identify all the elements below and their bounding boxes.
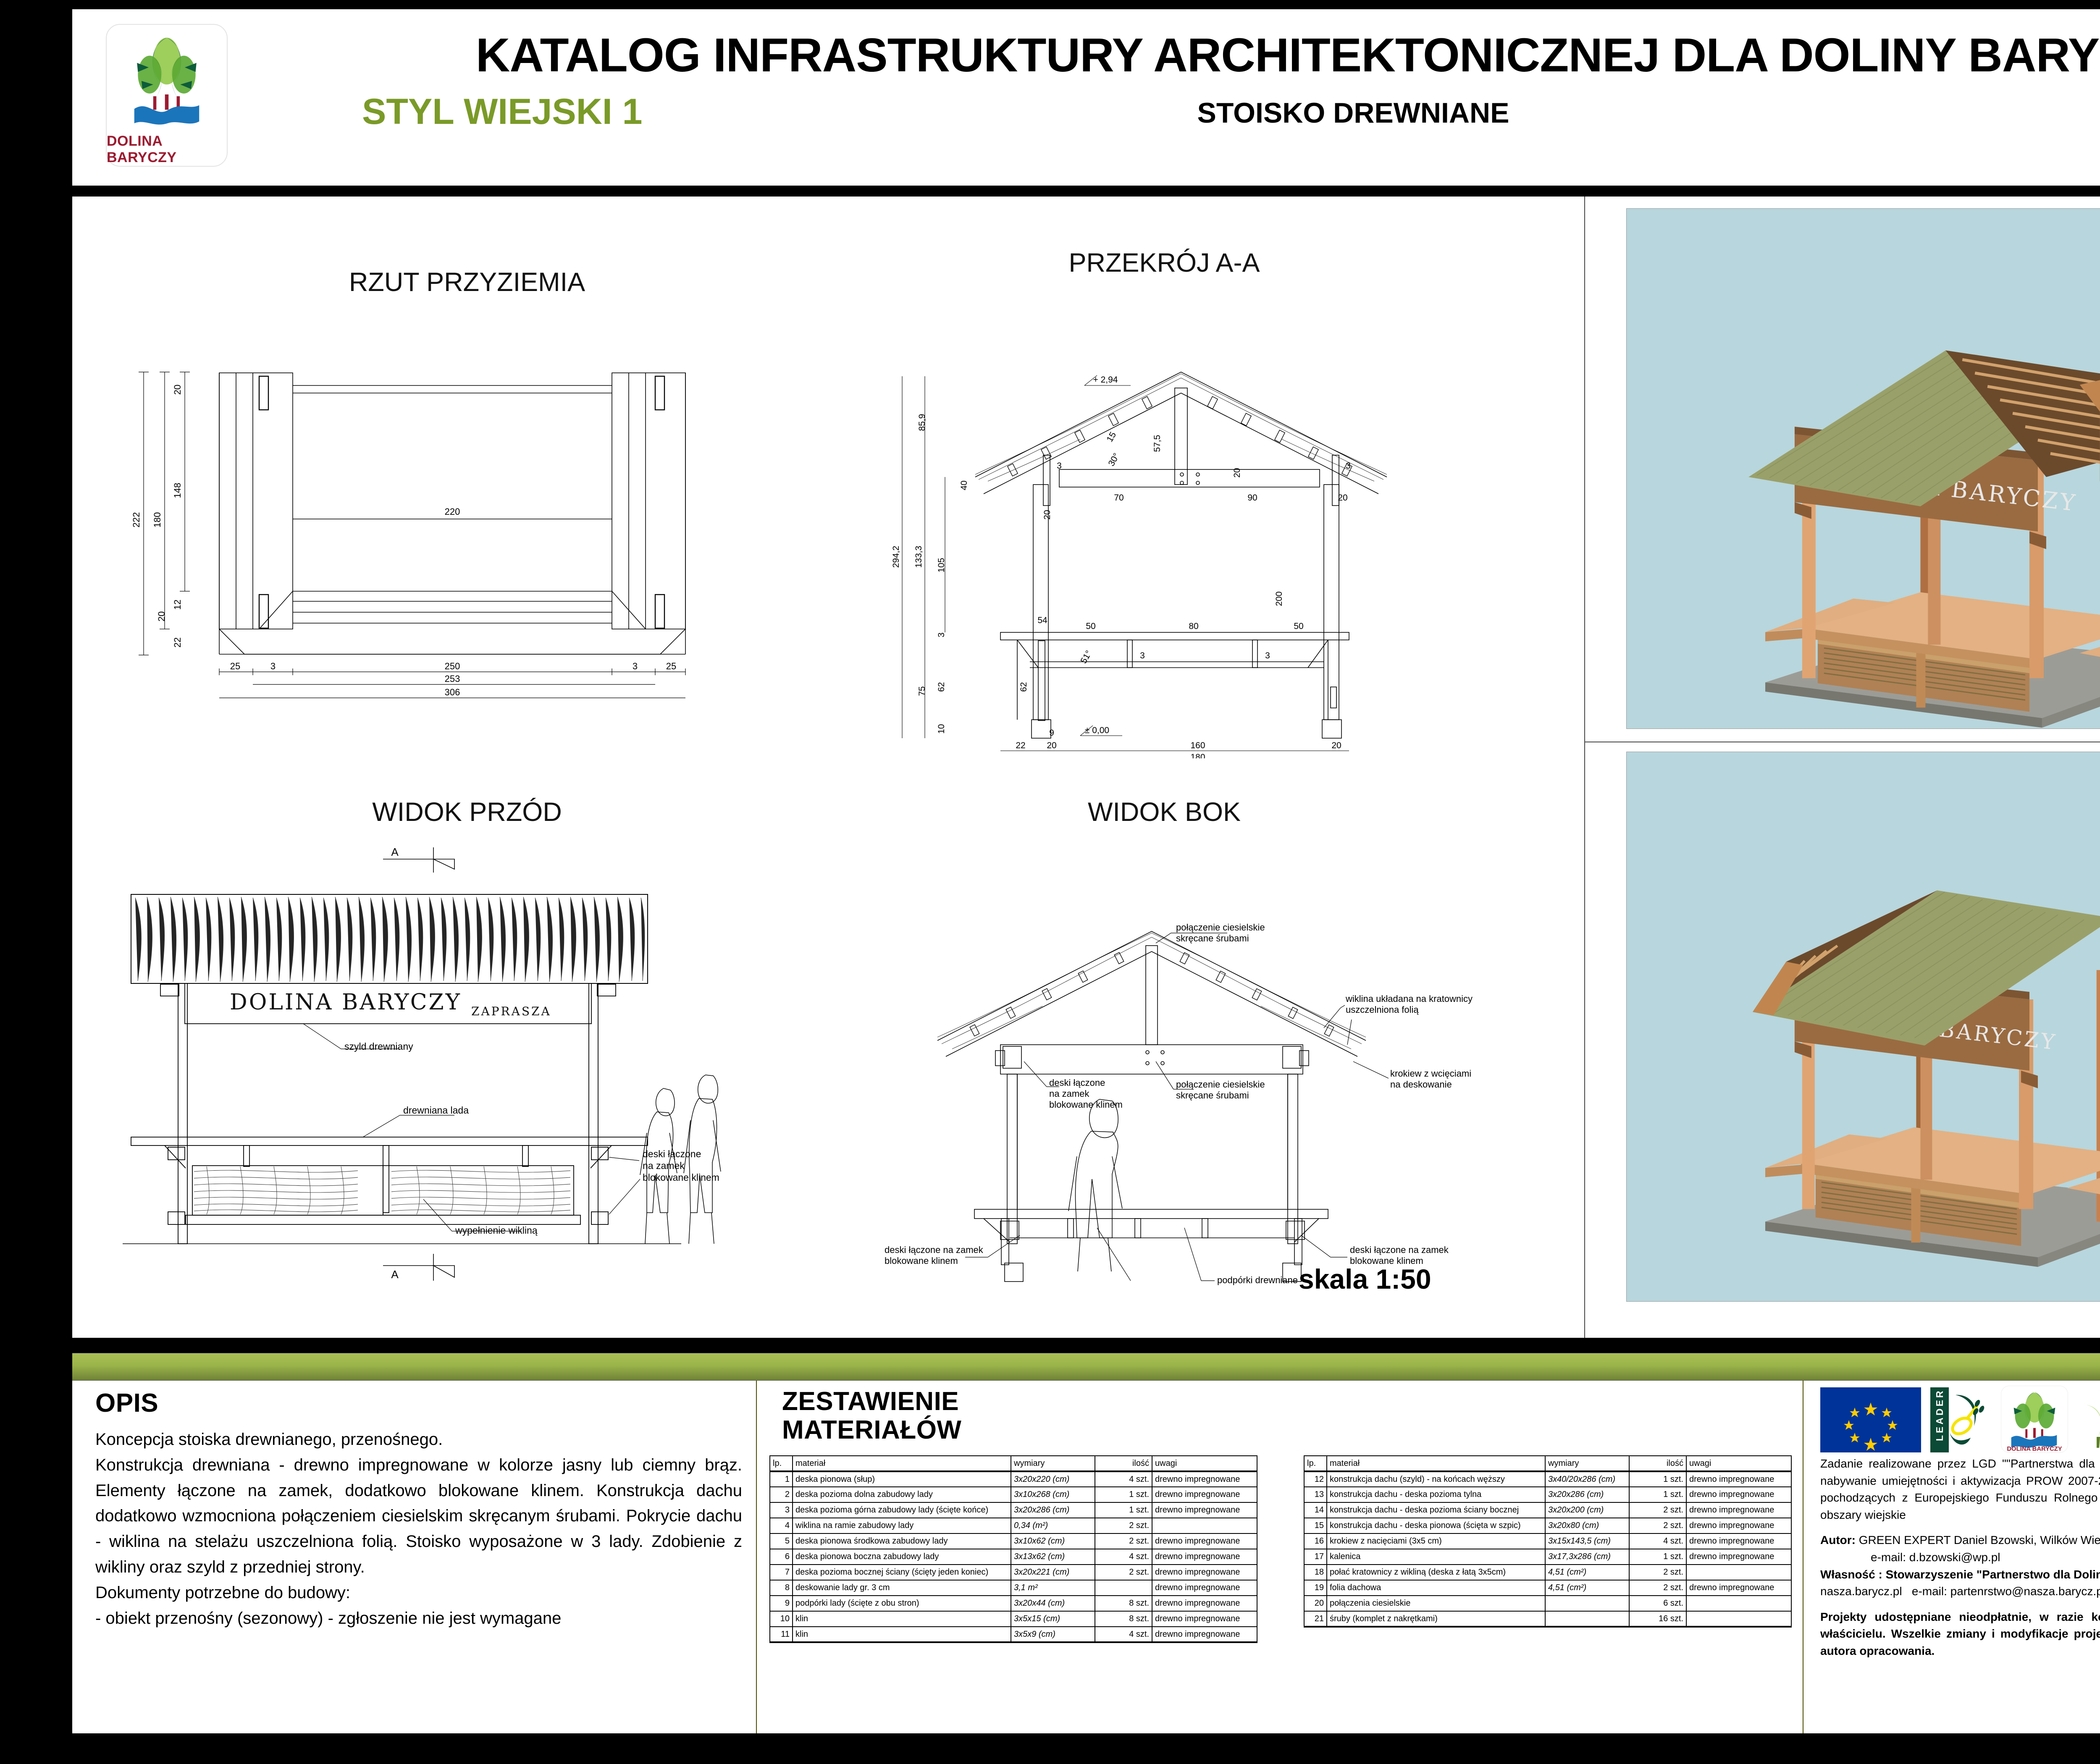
cell-mat: klin xyxy=(793,1627,1011,1642)
cell-dim: 3x10x268 (cm) xyxy=(1011,1487,1095,1502)
dim-sec-90: 90 xyxy=(1247,493,1257,503)
side-ann-wicker-l1: wiklina układana na kratownicy xyxy=(1345,993,1473,1004)
cell-dim: 3x5x15 (cm) xyxy=(1011,1611,1095,1627)
cell-num: 20 xyxy=(1304,1596,1327,1611)
col-ilosc-2: ilość xyxy=(1629,1456,1686,1471)
table-row: 16krokiew z nacięciami (3x5 cm)3x15x143,… xyxy=(1304,1533,1791,1549)
table-row: 21śruby (komplet z nakrętkami)16 szt. xyxy=(1304,1611,1791,1627)
dim-plan-180: 180 xyxy=(152,512,163,528)
cell-mat: połać kratownicy z wikliną (deska z łatą… xyxy=(1327,1565,1545,1580)
cell-mat: folia dachowa xyxy=(1327,1580,1545,1596)
level-zero-label: ± 0,00 xyxy=(1085,726,1109,735)
cell-rem: drewno impregnowane xyxy=(1152,1487,1257,1502)
table-row: 1deska pionowa (słup)3x20x220 (cm)4 szt.… xyxy=(770,1471,1257,1487)
cell-rem: drewno impregnowane xyxy=(1152,1611,1257,1627)
cell-dim: 4,51 (cm²) xyxy=(1545,1580,1629,1596)
dim-plan-3r: 3 xyxy=(633,661,638,671)
dim-sec-20roof: 20 xyxy=(1232,468,1242,477)
side-ann-joint-l2: skręcane śrubami xyxy=(1176,1090,1249,1101)
cell-rem: drewno impregnowane xyxy=(1686,1518,1791,1533)
dim-sec-20left: 20 xyxy=(1042,510,1052,519)
render-divider-horizontal xyxy=(1584,742,2100,742)
col-uwagi: uwagi xyxy=(1152,1456,1257,1471)
dim-sec-200: 200 xyxy=(1274,591,1284,606)
front-sign-text: DOLINA BARYCZY xyxy=(230,990,462,1015)
cell-qty: 2 szt. xyxy=(1629,1502,1686,1518)
dim-sec-3right: 3 xyxy=(1346,461,1351,471)
scale-figure-side xyxy=(1068,1099,1122,1271)
scale-figures xyxy=(640,1075,721,1244)
table-row: 2deska pozioma dolna zabudowy lady3x10x2… xyxy=(770,1487,1257,1502)
cell-num: 5 xyxy=(770,1533,793,1549)
cell-qty: 1 szt. xyxy=(1095,1502,1152,1518)
side-view-drawing: połączenie ciesielskie skręcane śrubami … xyxy=(862,843,1542,1297)
cell-rem xyxy=(1686,1611,1791,1627)
side-ann-boards-l2: na zamek xyxy=(1049,1088,1089,1099)
cell-rem: drewno impregnowane xyxy=(1152,1502,1257,1518)
cell-qty: 1 szt. xyxy=(1629,1487,1686,1502)
dolina-baryczy-logo: DOLINA BARYCZY xyxy=(106,24,228,167)
cell-rem: drewno impregnowane xyxy=(1686,1533,1791,1549)
cell-rem: drewno impregnowane xyxy=(1152,1627,1257,1642)
cell-qty: 4 szt. xyxy=(1095,1471,1152,1487)
section-mark-a-top: A xyxy=(391,846,399,858)
col-lp: lp. xyxy=(770,1456,793,1471)
cell-num: 13 xyxy=(1304,1487,1327,1502)
cell-num: 15 xyxy=(1304,1518,1327,1533)
cell-qty: 2 szt. xyxy=(1629,1565,1686,1580)
front-ann-counter: drewniana lada xyxy=(403,1105,469,1116)
page-subtitle: STOISKO DREWNIANE xyxy=(870,97,1836,129)
col-material: materiał xyxy=(793,1456,1011,1471)
cell-qty: 1 szt. xyxy=(1095,1487,1152,1502)
cell-qty: 1 szt. xyxy=(1629,1549,1686,1565)
table-row: 4wiklina na ramie zabudowy lady0,34 (m²)… xyxy=(770,1518,1257,1533)
cell-rem: drewno impregnowane xyxy=(1686,1487,1791,1502)
table-row: 14konstrukcja dachu - deska pozioma ścia… xyxy=(1304,1502,1791,1518)
cell-dim: 3x5x9 (cm) xyxy=(1011,1627,1095,1642)
cell-mat: deska pozioma górna zabudowy lady (ścięt… xyxy=(793,1502,1011,1518)
cell-dim: 3x20x220 (cm) xyxy=(1011,1471,1095,1487)
table-row: 13konstrukcja dachu - deska pozioma tyln… xyxy=(1304,1487,1791,1502)
dim-sec-20b: 20 xyxy=(1047,741,1056,750)
dim-sec-859: 85,9 xyxy=(917,414,927,431)
table-row: 6deska pionowa boczna zabudowy lady3x13x… xyxy=(770,1549,1257,1565)
table-row: 18połać kratownicy z wikliną (deska z ła… xyxy=(1304,1565,1791,1580)
side-ann-rafter-l2: na deskowanie xyxy=(1390,1079,1452,1090)
table-row: 8deskowanie lady gr. 3 cm3,1 m²drewno im… xyxy=(770,1580,1257,1596)
catalog-sheet: DOLINA BARYCZY KATALOG INFRASTRUKTURY AR… xyxy=(0,0,2100,1764)
owner-line: Własność : Stowarzyszenie "Partnerstwo d… xyxy=(1820,1566,2100,1583)
dim-sec-10: 10 xyxy=(937,724,946,734)
cell-num: 2 xyxy=(770,1487,793,1502)
dim-sec-1333: 133,3 xyxy=(914,546,924,568)
cell-mat: deskowanie lady gr. 3 cm xyxy=(793,1580,1011,1596)
dim-sec-80: 80 xyxy=(1189,621,1198,631)
level-top-label: + 2,94 xyxy=(1093,375,1118,385)
dim-sec-3a: 3 xyxy=(1140,651,1145,661)
side-ann-wicker-l2: uszczelniona folią xyxy=(1346,1004,1419,1015)
drawings-panel: RZUT PRZYZIEMIA PRZEKRÓJ A-A WIDOK PRZÓD… xyxy=(72,197,2100,1338)
cell-qty: 2 szt. xyxy=(1629,1518,1686,1533)
cell-dim: 3x20x44 (cm) xyxy=(1011,1596,1095,1611)
cell-mat: konstrukcja dachu - deska pozioma ściany… xyxy=(1327,1502,1545,1518)
section-drawing: 294,2 133,3 85,9 105 75 62 10 3 40 57,5 … xyxy=(862,296,1534,758)
dim-sec-62: 62 xyxy=(937,682,946,692)
dim-sec-angle30: 30° xyxy=(1106,451,1121,468)
dim-sec-70: 70 xyxy=(1114,493,1123,503)
front-ann-wicker: wypełnienie wikliną xyxy=(455,1225,538,1236)
cell-dim xyxy=(1545,1611,1629,1627)
cell-num: 18 xyxy=(1304,1565,1327,1580)
footer-text: Zadanie realizowane przez LGD ""Partners… xyxy=(1820,1455,2100,1660)
cell-rem: drewno impregnowane xyxy=(1152,1565,1257,1580)
side-ann-joint-l1: połączenie ciesielskie xyxy=(1176,1079,1265,1090)
page-title: KATALOG INFRASTRUKTURY ARCHITEKTONICZNEJ… xyxy=(274,28,2100,82)
dim-sec-40: 40 xyxy=(959,480,969,490)
cell-mat: podpórki lady (ścięte z obu stron) xyxy=(793,1596,1011,1611)
dim-plan-253: 253 xyxy=(445,674,460,684)
dim-sec-15: 15 xyxy=(1105,430,1118,444)
cell-mat: krokiew z nacięciami (3x5 cm) xyxy=(1327,1533,1545,1549)
cell-num: 11 xyxy=(770,1627,793,1642)
render-perspective-1: DOLINA BARYCZY xyxy=(1626,208,2100,729)
funding-paragraph: Zadanie realizowane przez LGD ""Partners… xyxy=(1820,1455,2100,1523)
cell-qty: 2 szt. xyxy=(1095,1533,1152,1549)
cell-rem: drewno impregnowane xyxy=(1152,1596,1257,1611)
cell-mat: kalenica xyxy=(1327,1549,1545,1565)
cell-num: 1 xyxy=(770,1471,793,1487)
materials-heading-2: MATERIAŁÓW xyxy=(782,1415,961,1445)
table-row: 9podpórki lady (ścięte z obu stron)3x20x… xyxy=(770,1596,1257,1611)
dim-sec-75: 75 xyxy=(917,686,927,696)
cell-qty: 4 szt. xyxy=(1629,1533,1686,1549)
cell-qty: 8 szt. xyxy=(1095,1596,1152,1611)
cell-dim: 3x20x286 (cm) xyxy=(1011,1502,1095,1518)
cell-num: 17 xyxy=(1304,1549,1327,1565)
dim-sec-20br: 20 xyxy=(1331,741,1341,750)
table-row: 7deska pozioma bocznej ściany (ścięty je… xyxy=(770,1565,1257,1580)
materials-table-left: lp. materiał wymiary ilość uwagi 1deska … xyxy=(769,1455,1257,1643)
side-ann-br-l1: deski łączone na zamek xyxy=(1350,1245,1449,1255)
dim-sec-160: 160 xyxy=(1190,741,1205,750)
cell-dim: 3x20x221 (cm) xyxy=(1011,1565,1095,1580)
dim-plan-222: 222 xyxy=(131,512,142,528)
green-divider-bar xyxy=(72,1353,2100,1381)
section-mark-a-bottom: A xyxy=(391,1268,399,1281)
side-ann-bl-l2: blokowane klinem xyxy=(885,1256,958,1266)
col-wymiary: wymiary xyxy=(1011,1456,1095,1471)
opis-paragraph-3: - obiekt przenośny (sezonowy) - zgłoszen… xyxy=(95,1606,742,1631)
plan-title: RZUT PRZYZIEMIA xyxy=(215,267,719,297)
cell-num: 9 xyxy=(770,1596,793,1611)
cell-mat: deska pionowa środkowa zabudowy lady xyxy=(793,1533,1011,1549)
cell-qty: 2 szt. xyxy=(1629,1580,1686,1596)
col-material-2: materiał xyxy=(1327,1456,1545,1471)
dim-sec-180: 180 xyxy=(1190,752,1205,758)
front-ann-boards-l3: blokowane klinem xyxy=(643,1172,719,1183)
table-row: 12konstrukcja dachu (szyld) - na końcach… xyxy=(1304,1471,1791,1487)
dim-plan-306: 306 xyxy=(445,687,460,697)
karta-label: KARTA: STOISKO DREWNIANE 1/2 xyxy=(1848,1733,2100,1756)
owner-label: Własność : Stowarzyszenie "Partnerstwo d… xyxy=(1820,1568,2100,1581)
dim-plan-25l: 25 xyxy=(230,661,240,671)
leader-logo: LEADER xyxy=(1930,1387,1991,1452)
cell-qty: 6 szt. xyxy=(1629,1596,1686,1611)
front-ann-sign: szyld drewniany xyxy=(344,1041,413,1052)
dim-plan-22: 22 xyxy=(172,637,183,647)
side-ann-boards-l3: blokowane klinem xyxy=(1049,1099,1123,1110)
dim-sec-575: 57,5 xyxy=(1152,435,1162,452)
cell-mat: deska pozioma bocznej ściany (ścięty jed… xyxy=(793,1565,1011,1580)
panel-divider-vertical xyxy=(1584,197,1585,1338)
cell-dim: 3x13x62 (cm) xyxy=(1011,1549,1095,1565)
dolina-baryczy-logo-text: DOLINA BARYCZY xyxy=(107,133,227,166)
materials-heading-1: ZESTAWIENIE xyxy=(782,1387,959,1416)
bottom-divider-1 xyxy=(756,1381,757,1733)
cell-rem xyxy=(1152,1518,1257,1533)
cell-dim: 3x17,3x286 (cm) xyxy=(1545,1549,1629,1565)
cell-mat: konstrukcja dachu - deska pozioma tylna xyxy=(1327,1487,1545,1502)
eu-flag-logo xyxy=(1820,1387,1921,1452)
opis-paragraph-0: Koncepcja stoiska drewnianego, przenośne… xyxy=(95,1427,742,1452)
dim-plan-12: 12 xyxy=(172,600,183,610)
cell-num: 8 xyxy=(770,1580,793,1596)
dim-plan-20top: 20 xyxy=(172,385,183,395)
dim-sec-angle51: 51° xyxy=(1079,649,1094,665)
cell-num: 4 xyxy=(770,1518,793,1533)
table-row: 11klin3x5x9 (cm)4 szt.drewno impregnowan… xyxy=(770,1627,1257,1642)
table-row: 5deska pionowa środkowa zabudowy lady3x1… xyxy=(770,1533,1257,1549)
owner-web: nasza.barycz.pl xyxy=(1820,1585,1902,1598)
cell-qty: 16 szt. xyxy=(1629,1611,1686,1627)
side-ann-ridge-l2: skręcane śrubami xyxy=(1176,933,1249,944)
materials-table-right: lp. materiał wymiary ilość uwagi 12konst… xyxy=(1304,1455,1792,1628)
dim-sec-3b: 3 xyxy=(1265,651,1270,661)
cell-rem: drewno impregnowane xyxy=(1686,1549,1791,1565)
opis-paragraph-2: Dokumenty potrzebne do budowy: xyxy=(95,1580,742,1606)
side-ann-rafter-l1: krokiew z wcięciami xyxy=(1390,1068,1471,1079)
section-title: PRZEKRÓJ A-A xyxy=(912,248,1416,278)
col-wymiary-2: wymiary xyxy=(1545,1456,1629,1471)
cell-dim: 3x20x200 (cm) xyxy=(1545,1502,1629,1518)
cell-rem: drewno impregnowane xyxy=(1686,1471,1791,1487)
render-perspective-2: DOLINA BARYCZY xyxy=(1626,752,2100,1302)
cell-mat: deska pozioma dolna zabudowy lady xyxy=(793,1487,1011,1502)
cell-qty: 8 szt. xyxy=(1095,1611,1152,1627)
leader-logo-text: LEADER xyxy=(1934,1389,1945,1441)
bottom-panel: OPIS Koncepcja stoiska drewnianego, prze… xyxy=(72,1381,2100,1733)
cell-num: 6 xyxy=(770,1549,793,1565)
floor-plan-drawing: 222 180 148 20 12 20 22 220 xyxy=(114,322,744,742)
cell-rem: drewno impregnowane xyxy=(1152,1533,1257,1549)
cell-rem xyxy=(1686,1596,1791,1611)
cell-mat: deska pionowa (słup) xyxy=(793,1471,1011,1487)
col-uwagi-2: uwagi xyxy=(1686,1456,1791,1471)
cell-dim: 3x20x80 (cm) xyxy=(1545,1518,1629,1533)
style-label: STYL WIEJSKI 1 xyxy=(362,91,642,133)
cell-num: 14 xyxy=(1304,1502,1327,1518)
cell-dim: 3x15x143,5 (cm) xyxy=(1545,1533,1629,1549)
cell-mat: wiklina na ramie zabudowy lady xyxy=(793,1518,1011,1533)
cell-qty: 4 szt. xyxy=(1095,1549,1152,1565)
materials-header-row: lp. materiał wymiary ilość uwagi xyxy=(770,1456,1257,1471)
license-text: Projekty udostępniane nieodpłatnie, w ra… xyxy=(1820,1609,2100,1660)
cell-mat: śruby (komplet z nakrętkami) xyxy=(1327,1611,1545,1627)
cell-rem: drewno impregnowane xyxy=(1152,1471,1257,1487)
table-row: 20połączenia ciesielskie6 szt. xyxy=(1304,1596,1791,1611)
dim-plan-220: 220 xyxy=(445,506,460,517)
front-view-drawing: A A xyxy=(123,843,778,1297)
side-ann-ridge-l1: połączenie ciesielskie xyxy=(1176,922,1265,933)
cell-num: 7 xyxy=(770,1565,793,1580)
cell-qty: 2 szt. xyxy=(1095,1518,1152,1533)
page-header: DOLINA BARYCZY KATALOG INFRASTRUKTURY AR… xyxy=(72,9,2100,186)
dim-sec-54: 54 xyxy=(1037,616,1047,625)
dolina-baryczy-footer-logo: DOLINA BARYCZY xyxy=(2001,1386,2068,1453)
cell-num: 21 xyxy=(1304,1611,1327,1627)
materials-header-row-2: lp. materiał wymiary ilość uwagi xyxy=(1304,1456,1791,1471)
front-view-title: WIDOK PRZÓD xyxy=(215,797,719,827)
table-row: 19folia dachowa4,51 (cm²)2 szt.drewno im… xyxy=(1304,1580,1791,1596)
table-row: 3deska pozioma górna zabudowy lady (ścię… xyxy=(770,1502,1257,1518)
cell-rem: drewno impregnowane xyxy=(1686,1502,1791,1518)
opis-heading: OPIS xyxy=(95,1388,158,1418)
cell-qty: 2 szt. xyxy=(1095,1565,1152,1580)
author-text: GREEN EXPERT Daniel Bzowski, Wilków Wiel… xyxy=(1859,1533,2100,1546)
cell-dim: 4,51 (cm²) xyxy=(1545,1565,1629,1580)
cell-mat: konstrukcja dachu (szyld) - na końcach w… xyxy=(1327,1471,1545,1487)
author-label: Autor: xyxy=(1820,1533,1856,1546)
cell-dim: 3x10x62 (cm) xyxy=(1011,1533,1095,1549)
dolina-baryczy-footer-text: DOLINA BARYCZY xyxy=(2007,1446,2062,1452)
owner-email: e-mail: partenrstwo@nasza.barycz.pl xyxy=(1912,1585,2100,1598)
cell-dim: 3x20x286 (cm) xyxy=(1545,1487,1629,1502)
cell-num: 19 xyxy=(1304,1580,1327,1596)
bottom-divider-2 xyxy=(1803,1381,1803,1733)
dim-sec-105: 105 xyxy=(937,558,946,572)
side-ann-boards-l1: deski łączone xyxy=(1049,1077,1105,1088)
col-ilosc: ilość xyxy=(1095,1456,1152,1471)
col-lp-2: lp. xyxy=(1304,1456,1327,1471)
cell-rem xyxy=(1686,1565,1791,1580)
cell-rem: drewno impregnowane xyxy=(1152,1549,1257,1565)
author-email: e-mail: d.bzowski@wp.pl xyxy=(1820,1549,2100,1566)
dim-sec-2942: 294,2 xyxy=(891,546,901,568)
cell-mat: deska pionowa boczna zabudowy lady xyxy=(793,1549,1011,1565)
dim-sec-3: 3 xyxy=(937,632,946,637)
side-view-title: WIDOK BOK xyxy=(912,797,1416,827)
cell-dim xyxy=(1545,1596,1629,1611)
cell-num: 10 xyxy=(770,1611,793,1627)
opis-body: Koncepcja stoiska drewnianego, przenośne… xyxy=(95,1427,742,1631)
side-ann-bl-l1: deski łączone na zamek xyxy=(885,1245,984,1255)
cell-rem: drewno impregnowane xyxy=(1686,1580,1791,1596)
dim-sec-22: 22 xyxy=(1016,741,1025,750)
front-sign-text2: ZAPRASZA xyxy=(471,1004,551,1018)
cell-dim: 3,1 m² xyxy=(1011,1580,1095,1596)
footer-logos: LEADER DOLINA BARYCZY xyxy=(1820,1384,2100,1451)
cell-qty: 4 szt. xyxy=(1095,1627,1152,1642)
cell-num: 12 xyxy=(1304,1471,1327,1487)
dim-plan-148: 148 xyxy=(172,483,183,498)
cell-num: 3 xyxy=(770,1502,793,1518)
dolina-baryczy-logo-icon xyxy=(118,33,215,132)
side-ann-supports: podpórki drewniane xyxy=(1217,1275,1298,1285)
dim-plan-3l: 3 xyxy=(270,661,276,671)
front-ann-boards-l2: na zamek xyxy=(643,1160,685,1171)
cell-mat: połączenia ciesielskie xyxy=(1327,1596,1545,1611)
cell-num: 16 xyxy=(1304,1533,1327,1549)
table-row: 15konstrukcja dachu - deska pionowa (ści… xyxy=(1304,1518,1791,1533)
cell-mat: konstrukcja dachu - deska pionowa (ścięt… xyxy=(1327,1518,1545,1533)
dim-plan-250: 250 xyxy=(445,661,460,671)
side-ann-br-l2: blokowane klinem xyxy=(1350,1256,1423,1266)
owner-contact: nasza.barycz.pl e-mail: partenrstwo@nasz… xyxy=(1820,1583,2100,1600)
dim-sec-50l: 50 xyxy=(1086,621,1095,631)
table-row: 10klin3x5x15 (cm)8 szt.drewno impregnowa… xyxy=(770,1611,1257,1627)
dim-plan-20bot: 20 xyxy=(156,611,167,621)
partnerstwo-logo: PARTNERSTWO DLA DOLINY BARYCZY xyxy=(2077,1385,2100,1453)
dim-sec-62post: 62 xyxy=(1019,682,1029,692)
dim-sec-9: 9 xyxy=(1049,728,1054,738)
cell-mat: klin xyxy=(793,1611,1011,1627)
dim-sec-3left: 3 xyxy=(1057,461,1062,471)
cell-dim: 0,34 (m²) xyxy=(1011,1518,1095,1533)
cell-rem: drewno impregnowane xyxy=(1152,1580,1257,1596)
author-line: Autor: GREEN EXPERT Daniel Bzowski, Wilk… xyxy=(1820,1532,2100,1549)
opis-paragraph-1: Konstrukcja drewniana - drewno impregnow… xyxy=(95,1452,742,1580)
dim-sec-50r: 50 xyxy=(1294,621,1303,631)
table-row: 17kalenica3x17,3x286 (cm)1 szt.drewno im… xyxy=(1304,1549,1791,1565)
dim-sec-20right: 20 xyxy=(1338,493,1347,503)
cell-dim: 3x40/20x286 (cm) xyxy=(1545,1471,1629,1487)
cell-qty xyxy=(1095,1580,1152,1596)
dim-plan-25r: 25 xyxy=(666,661,676,671)
cell-qty: 1 szt. xyxy=(1629,1471,1686,1487)
